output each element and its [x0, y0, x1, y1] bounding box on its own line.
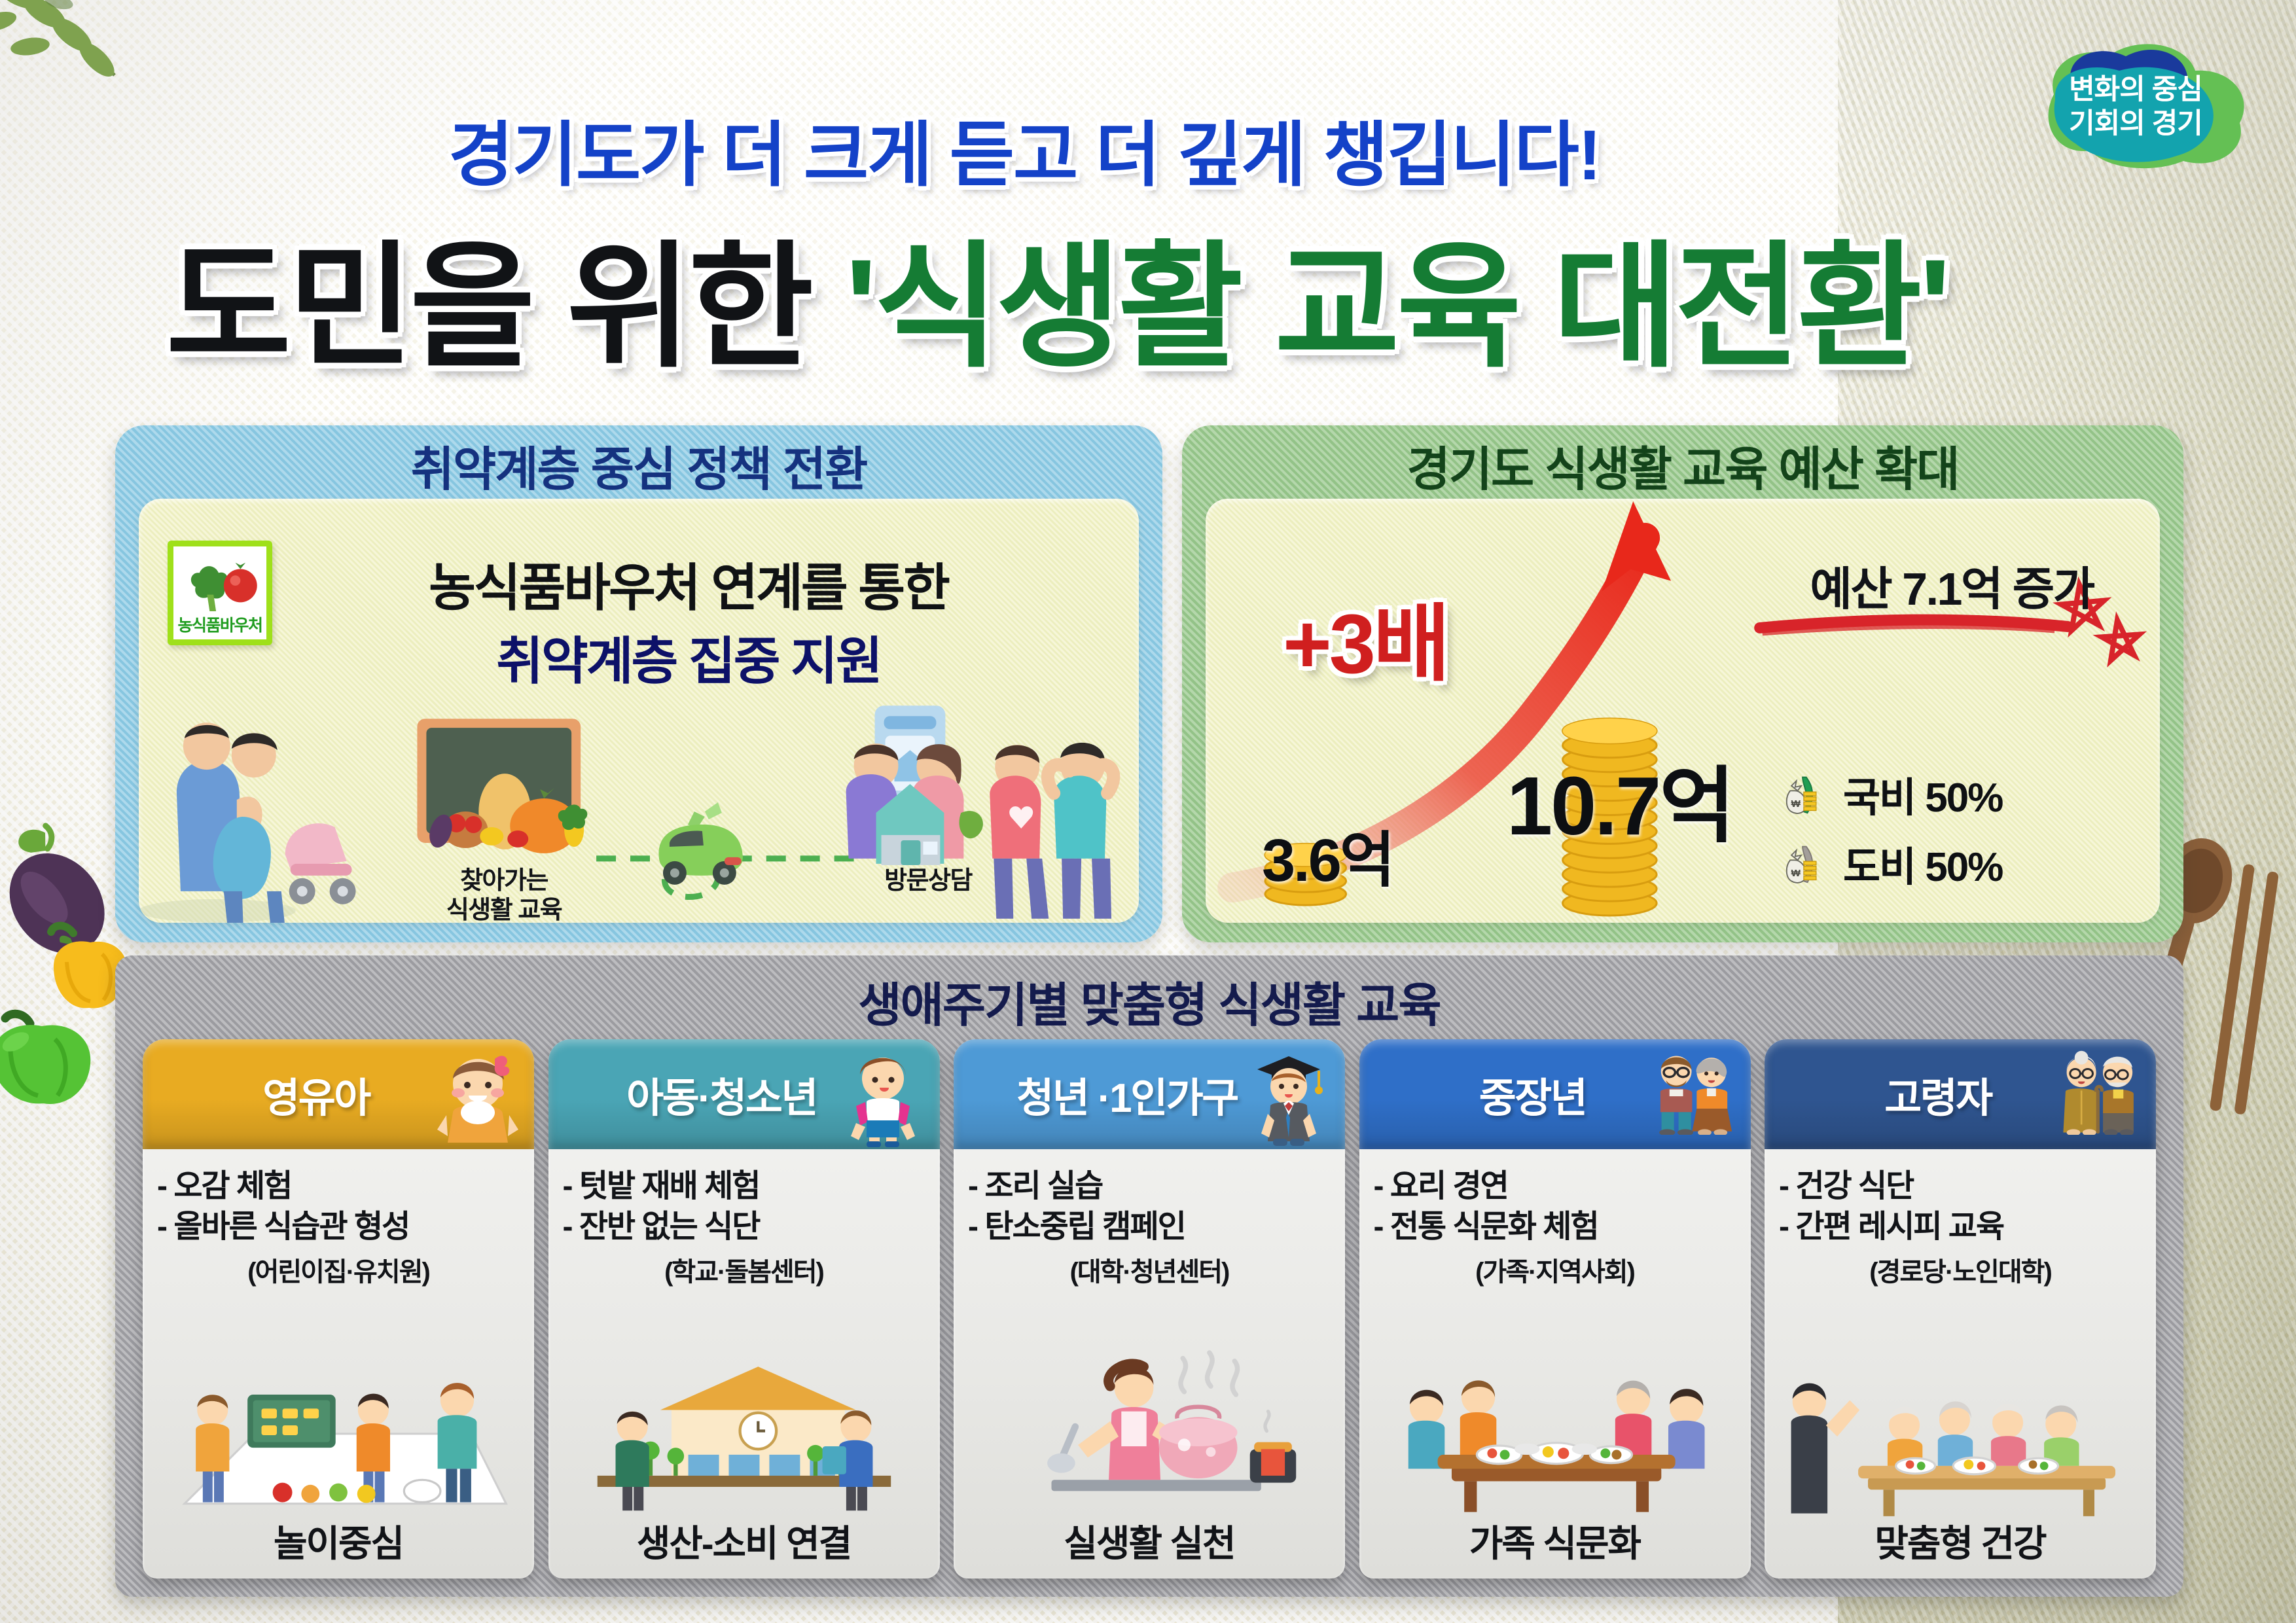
- panel-vulnerable-body: 농식품바우처 농식품바우처 연계를 통한 취약계층 집중 지원: [139, 499, 1139, 923]
- gyeonggi-logo-line1: 변화의 중심: [2069, 74, 2202, 105]
- lifecycle-card-title: 영유아: [262, 1065, 370, 1124]
- page-title-black: 도민을 위한: [166, 232, 845, 383]
- lifecycle-card-header: 고령자: [1765, 1039, 2156, 1149]
- elderly-couple-icon: [2056, 1050, 2142, 1148]
- middle-aged-couple-icon: [1651, 1050, 1736, 1148]
- lifecycle-card-venue: (어린이집·유치원): [157, 1251, 520, 1289]
- school-garden-icon: [548, 1343, 940, 1507]
- lifecycle-card-bullet: - 잔반 없는 식단: [563, 1207, 925, 1247]
- lifecycle-card[interactable]: 중장년 - 요리 경연- 전통 식문화 체험(가족·지역사회): [1359, 1039, 1751, 1578]
- page-title-green: '식생활 교육 대전환': [845, 232, 1948, 383]
- lifecycle-card-header: 청년 ·1인가구: [954, 1039, 1345, 1149]
- panel-vulnerable-title: 취약계층 중심 정책 전환: [115, 425, 1162, 504]
- food-voucher-badge: 농식품바우처: [168, 541, 272, 645]
- family-illustration: [139, 722, 356, 923]
- money-bag-province-icon: ₩: [1782, 842, 1825, 885]
- panel-budget-expansion: 경기도 식생활 교육 예산 확대: [1182, 425, 2183, 942]
- lifecycle-card-header: 영유아: [143, 1039, 534, 1149]
- lifecycle-card-body: - 요리 경연- 전통 식문화 체험(가족·지역사회): [1359, 1149, 1751, 1289]
- lifecycle-card-title: 고령자: [1884, 1065, 1992, 1124]
- lifecycle-card-bullet: - 오감 체험: [157, 1166, 520, 1207]
- green-bell-pepper-icon: [0, 1001, 108, 1113]
- poster-subtitle: 경기도가 더 크게 듣고 더 깊게 챙깁니다!: [0, 98, 2049, 200]
- lifecycle-card[interactable]: 아동·청소년 - 텃밭 재배 체험- 잔반 없는 식단(학교·돌봄센터) 생산-…: [548, 1039, 940, 1578]
- funding-label-national: 국비 50%: [1843, 764, 2002, 823]
- vulnerable-lead-line1: 농식품바우처 연계를 통한: [302, 547, 1075, 620]
- flow-caption-home-visit: 방문상담: [843, 866, 1013, 896]
- money-bag-national-icon: ₩: [1782, 772, 1825, 815]
- panel-budget-body: +3배 3.6억 10.7억 예산 7.1억 증가 ₩ 국비 50%: [1206, 499, 2160, 923]
- produce-blackboard-illustration: [417, 719, 587, 853]
- lifecycle-card-title: 아동·청소년: [626, 1065, 817, 1124]
- lifecycle-card-venue: (경로당·노인대학): [1779, 1251, 2142, 1289]
- panel-lifecycle-title: 생애주기별 맞춤형 식생활 교육: [115, 965, 2183, 1037]
- poster-header: 경기도가 더 크게 듣고 더 깊게 챙깁니다! 도민을 위한 '식생활 교육 대…: [0, 0, 2296, 406]
- lifecycle-card-bullet: - 텃밭 재배 체험: [563, 1166, 925, 1207]
- seniors-class-icon: [1765, 1343, 2156, 1507]
- green-car-icon: [658, 802, 742, 885]
- lifecycle-card-footer: 맞춤형 건강: [1765, 1514, 2156, 1567]
- lifecycle-card-bullet: - 조리 실습: [968, 1166, 1331, 1207]
- baby-icon: [435, 1050, 520, 1148]
- lifecycle-card-body: - 오감 체험- 올바른 식습관 형성(어린이집·유치원): [143, 1149, 534, 1289]
- budget-amount-after: 10.7억: [1507, 740, 1733, 859]
- lifecycle-card-bullet: - 건강 식단: [1779, 1166, 2142, 1207]
- lifecycle-card-footer: 가족 식문화: [1359, 1514, 1751, 1567]
- flow-caption-outreach: 찾아가는 식생활 교육: [406, 866, 602, 923]
- flow-caption-outreach-line2: 식생활 교육: [406, 896, 602, 923]
- funding-label-province: 도비 50%: [1843, 834, 2002, 893]
- lifecycle-card-body: - 건강 식단- 간편 레시피 교육(경로당·노인대학): [1765, 1149, 2156, 1289]
- page-title: 도민을 위한 '식생활 교육 대전환': [0, 196, 2114, 393]
- lifecycle-card-body: - 조리 실습- 탄소중립 캠페인(대학·청년센터): [954, 1149, 1345, 1289]
- gyeonggi-logo-line2: 기회의 경기: [2069, 108, 2202, 139]
- kids-play-food-icon: [143, 1343, 534, 1507]
- family-table-icon: [1359, 1343, 1751, 1507]
- flow-caption-outreach-line1: 찾아가는: [406, 866, 602, 896]
- budget-increase-text: 예산 7.1억 증가: [1749, 552, 2155, 618]
- gyeonggi-logo: 변화의 중심 기회의 경기: [2015, 39, 2257, 170]
- lifecycle-card[interactable]: 청년 ·1인가구 - 조리 실습- 탄소중립 캠페인(대학·청년센터): [954, 1039, 1345, 1578]
- lifecycle-card-header: 아동·청소년: [548, 1039, 940, 1149]
- vulnerable-lead-line2: 취약계층 집중 지원: [302, 620, 1075, 694]
- budget-amount-before: 3.6억: [1262, 811, 1393, 899]
- lifecycle-card-bullet: - 간편 레시피 교육: [1779, 1207, 2142, 1247]
- food-voucher-badge-label: 농식품바우처: [177, 613, 262, 636]
- lifecycle-card-bullet: - 요리 경연: [1374, 1166, 1736, 1207]
- lifecycle-card-bullet: - 전통 식문화 체험: [1374, 1207, 1736, 1247]
- lifecycle-card-title: 중장년: [1479, 1065, 1587, 1124]
- outreach-flow-illustration: 찾아가는 식생활 교육 방문상담: [139, 695, 1139, 923]
- panel-vulnerable-groups: 취약계층 중심 정책 전환 농식품바우처 농식품바우처 연계를 통한 취약계층 …: [115, 425, 1162, 942]
- lifecycle-card-list: 영유아 - 오감 체험- 올바른 식습관 형성(어린이집·유치원) 놀이중심아동…: [143, 1039, 2156, 1578]
- lifecycle-card-bullet: - 탄소중립 캠페인: [968, 1207, 1331, 1247]
- funding-row-province: ₩ 도비 50%: [1782, 834, 2148, 893]
- lifecycle-card-header: 중장년: [1359, 1039, 1751, 1149]
- lifecycle-card-footer: 생산-소비 연결: [548, 1514, 940, 1567]
- gyeonggi-logo-text: 변화의 중심 기회의 경기: [2015, 39, 2257, 170]
- home-visit-illustration: [846, 705, 983, 865]
- lifecycle-card-venue: (대학·청년센터): [968, 1251, 1331, 1289]
- lifecycle-card-footer: 놀이중심: [143, 1514, 534, 1567]
- lifecycle-card-body: - 텃밭 재배 체험- 잔반 없는 식단(학교·돌봄센터): [548, 1149, 940, 1289]
- lifecycle-card-footer: 실생활 실천: [954, 1514, 1345, 1567]
- panel-lifecycle-education: 생애주기별 맞춤형 식생활 교육 영유아 - 오감 체험- 올바른 식습관 형성…: [115, 955, 2183, 1597]
- lifecycle-card[interactable]: 영유아 - 오감 체험- 올바른 식습관 형성(어린이집·유치원) 놀이중심: [143, 1039, 534, 1578]
- lifecycle-card-bullet: - 올바른 식습관 형성: [157, 1207, 520, 1247]
- lifecycle-card[interactable]: 고령자 - 건강 식단- 간편 레시피 교육(경로당·노인대학): [1765, 1039, 2156, 1578]
- broccoli-tomato-icon: [181, 554, 259, 613]
- graduate-icon: [1246, 1050, 1331, 1148]
- budget-multiplier: +3배: [1283, 576, 1448, 697]
- cooking-icon: [954, 1343, 1345, 1507]
- child-icon: [840, 1050, 925, 1148]
- lifecycle-card-venue: (학교·돌봄센터): [563, 1251, 925, 1289]
- lifecycle-card-venue: (가족·지역사회): [1374, 1251, 1736, 1289]
- panel-budget-title: 경기도 식생활 교육 예산 확대: [1182, 425, 2183, 504]
- lifecycle-card-title: 청년 ·1인가구: [1016, 1065, 1238, 1124]
- funding-row-national: ₩ 국비 50%: [1782, 764, 2148, 823]
